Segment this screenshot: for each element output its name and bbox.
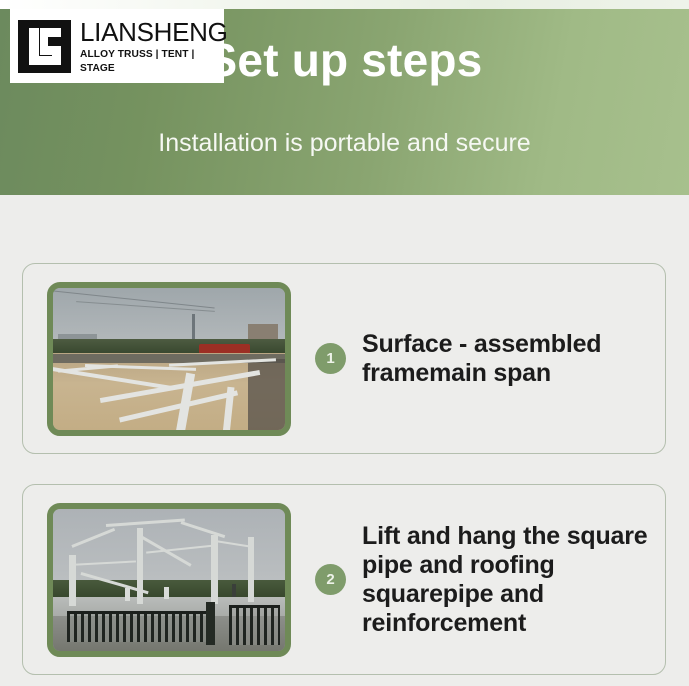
step-2-number-badge: 2 xyxy=(315,564,346,595)
step-1-body: 1 Surface - assembled framemain span xyxy=(291,330,665,388)
brand-logo-text: LIANSHENG ALLOY TRUSS | TENT | STAGE xyxy=(80,18,228,75)
step-1-label: Surface - assembled framemain span xyxy=(362,330,662,388)
ls-monogram-icon xyxy=(18,20,71,73)
brand-logo: LIANSHENG ALLOY TRUSS | TENT | STAGE xyxy=(10,9,224,83)
step-2-label: Lift and hang the square pipe and roofin… xyxy=(362,522,662,638)
step-1-number-badge: 1 xyxy=(315,343,346,374)
brand-name: LIANSHENG xyxy=(80,18,228,46)
step-2-photo xyxy=(47,503,291,657)
top-light-band xyxy=(0,0,689,9)
step-2-body: 2 Lift and hang the square pipe and roof… xyxy=(291,522,665,638)
step-card-2[interactable]: 2 Lift and hang the square pipe and roof… xyxy=(22,484,666,675)
step-card-1[interactable]: 1 Surface - assembled framemain span xyxy=(22,263,666,454)
brand-tagline: ALLOY TRUSS | TENT | STAGE xyxy=(80,47,223,75)
step-1-photo xyxy=(47,282,291,436)
page-subtitle: Installation is portable and secure xyxy=(0,127,689,159)
steps-list: 1 Surface - assembled framemain span xyxy=(0,195,689,686)
